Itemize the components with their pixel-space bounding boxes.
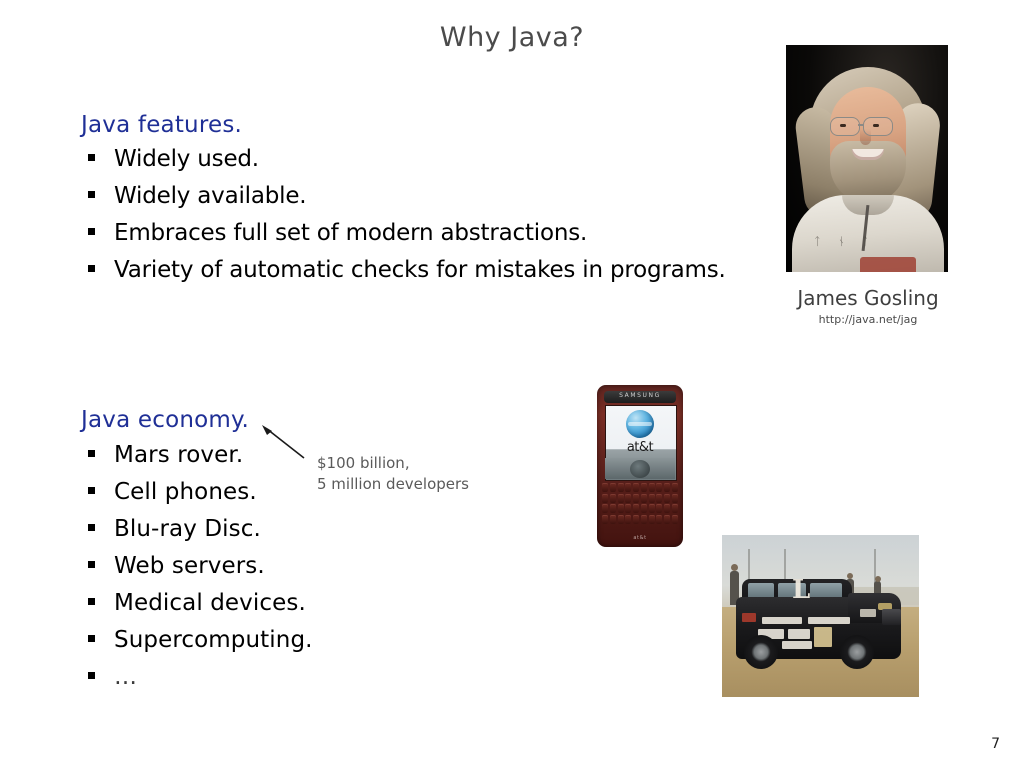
bullet-list-java-features: Widely used. Widely available. Embraces … bbox=[88, 148, 726, 296]
list-item-label: Cell phones. bbox=[114, 481, 257, 504]
square-bullet-icon bbox=[88, 672, 95, 679]
car-marking-letter: L bbox=[792, 577, 810, 603]
car-decal bbox=[742, 613, 756, 622]
car-decal bbox=[782, 641, 812, 649]
square-bullet-icon bbox=[88, 598, 95, 605]
list-item: … bbox=[88, 666, 313, 703]
section-heading-java-economy: Java economy. bbox=[81, 407, 249, 433]
phone-footer-logo: at&t bbox=[604, 535, 676, 541]
list-item-label: Medical devices. bbox=[114, 592, 306, 615]
list-item: Cell phones. bbox=[88, 481, 313, 518]
car-bystander-head bbox=[875, 576, 881, 582]
list-item-label: Embraces full set of modern abstractions… bbox=[114, 222, 587, 245]
portrait-red-object bbox=[860, 257, 916, 272]
section-heading-java-features: Java features. bbox=[81, 112, 242, 138]
slide-canvas: Why Java? Java features. Widely used. Wi… bbox=[0, 0, 1024, 768]
list-item-label: Widely used. bbox=[114, 148, 259, 171]
list-item: Mars rover. bbox=[88, 444, 313, 481]
list-item-label: Mars rover. bbox=[114, 444, 243, 467]
list-item: Medical devices. bbox=[88, 592, 313, 629]
photo-caption-url: http://java.net/jag bbox=[768, 313, 968, 326]
photo-james-gosling: ᛏ ᚾ ᛚ bbox=[786, 45, 948, 272]
car-bystander-head bbox=[847, 573, 853, 579]
att-globe-icon bbox=[626, 410, 654, 438]
square-bullet-icon bbox=[88, 524, 95, 531]
list-item-label: Widely available. bbox=[114, 185, 306, 208]
portrait-eye-right bbox=[873, 124, 879, 127]
square-bullet-icon bbox=[88, 450, 95, 457]
square-bullet-icon bbox=[88, 228, 95, 235]
page-number: 7 bbox=[991, 736, 1000, 752]
callout-text: $100 billion, 5 million developers bbox=[317, 453, 469, 495]
phone-brand-label: SAMSUNG bbox=[604, 392, 676, 402]
car-bystander-head bbox=[731, 564, 738, 571]
car-wheel-front bbox=[840, 635, 874, 669]
phone-dpad bbox=[630, 460, 650, 478]
car-decal bbox=[860, 609, 876, 617]
photo-caption-name: James Gosling bbox=[768, 286, 968, 310]
square-bullet-icon bbox=[88, 265, 95, 272]
list-item-label: Variety of automatic checks for mistakes… bbox=[114, 259, 726, 282]
list-item: Supercomputing. bbox=[88, 629, 313, 666]
bullet-list-java-economy: Mars rover. Cell phones. Blu-ray Disc. W… bbox=[88, 444, 313, 703]
photo-autonomous-vehicle: L bbox=[722, 535, 919, 697]
list-item: Widely used. bbox=[88, 148, 726, 185]
square-bullet-icon bbox=[88, 154, 95, 161]
car-grille bbox=[882, 609, 901, 625]
list-item-label: Web servers. bbox=[114, 555, 265, 578]
square-bullet-icon bbox=[88, 487, 95, 494]
list-item: Web servers. bbox=[88, 555, 313, 592]
portrait-glasses-bridge bbox=[858, 124, 863, 126]
car-decal bbox=[814, 627, 832, 647]
list-item: Embraces full set of modern abstractions… bbox=[88, 222, 726, 259]
portrait-eye-left bbox=[840, 124, 846, 127]
list-item-label: Supercomputing. bbox=[114, 629, 313, 652]
list-item-label: … bbox=[114, 666, 137, 689]
list-item: Widely available. bbox=[88, 185, 726, 222]
square-bullet-icon bbox=[88, 561, 95, 568]
car-wheel-rear bbox=[744, 635, 778, 669]
car-decal bbox=[808, 617, 850, 624]
list-item: Blu-ray Disc. bbox=[88, 518, 313, 555]
photo-samsung-att-phone: SAMSUNG at&t at&t bbox=[560, 378, 720, 554]
car-decal bbox=[762, 617, 802, 624]
list-item: Variety of automatic checks for mistakes… bbox=[88, 259, 726, 296]
list-item-label: Blu-ray Disc. bbox=[114, 518, 261, 541]
car-decal bbox=[788, 629, 810, 639]
phone-keyboard bbox=[602, 483, 678, 533]
square-bullet-icon bbox=[88, 191, 95, 198]
square-bullet-icon bbox=[88, 635, 95, 642]
phone-carrier-label: at&t bbox=[605, 440, 675, 455]
